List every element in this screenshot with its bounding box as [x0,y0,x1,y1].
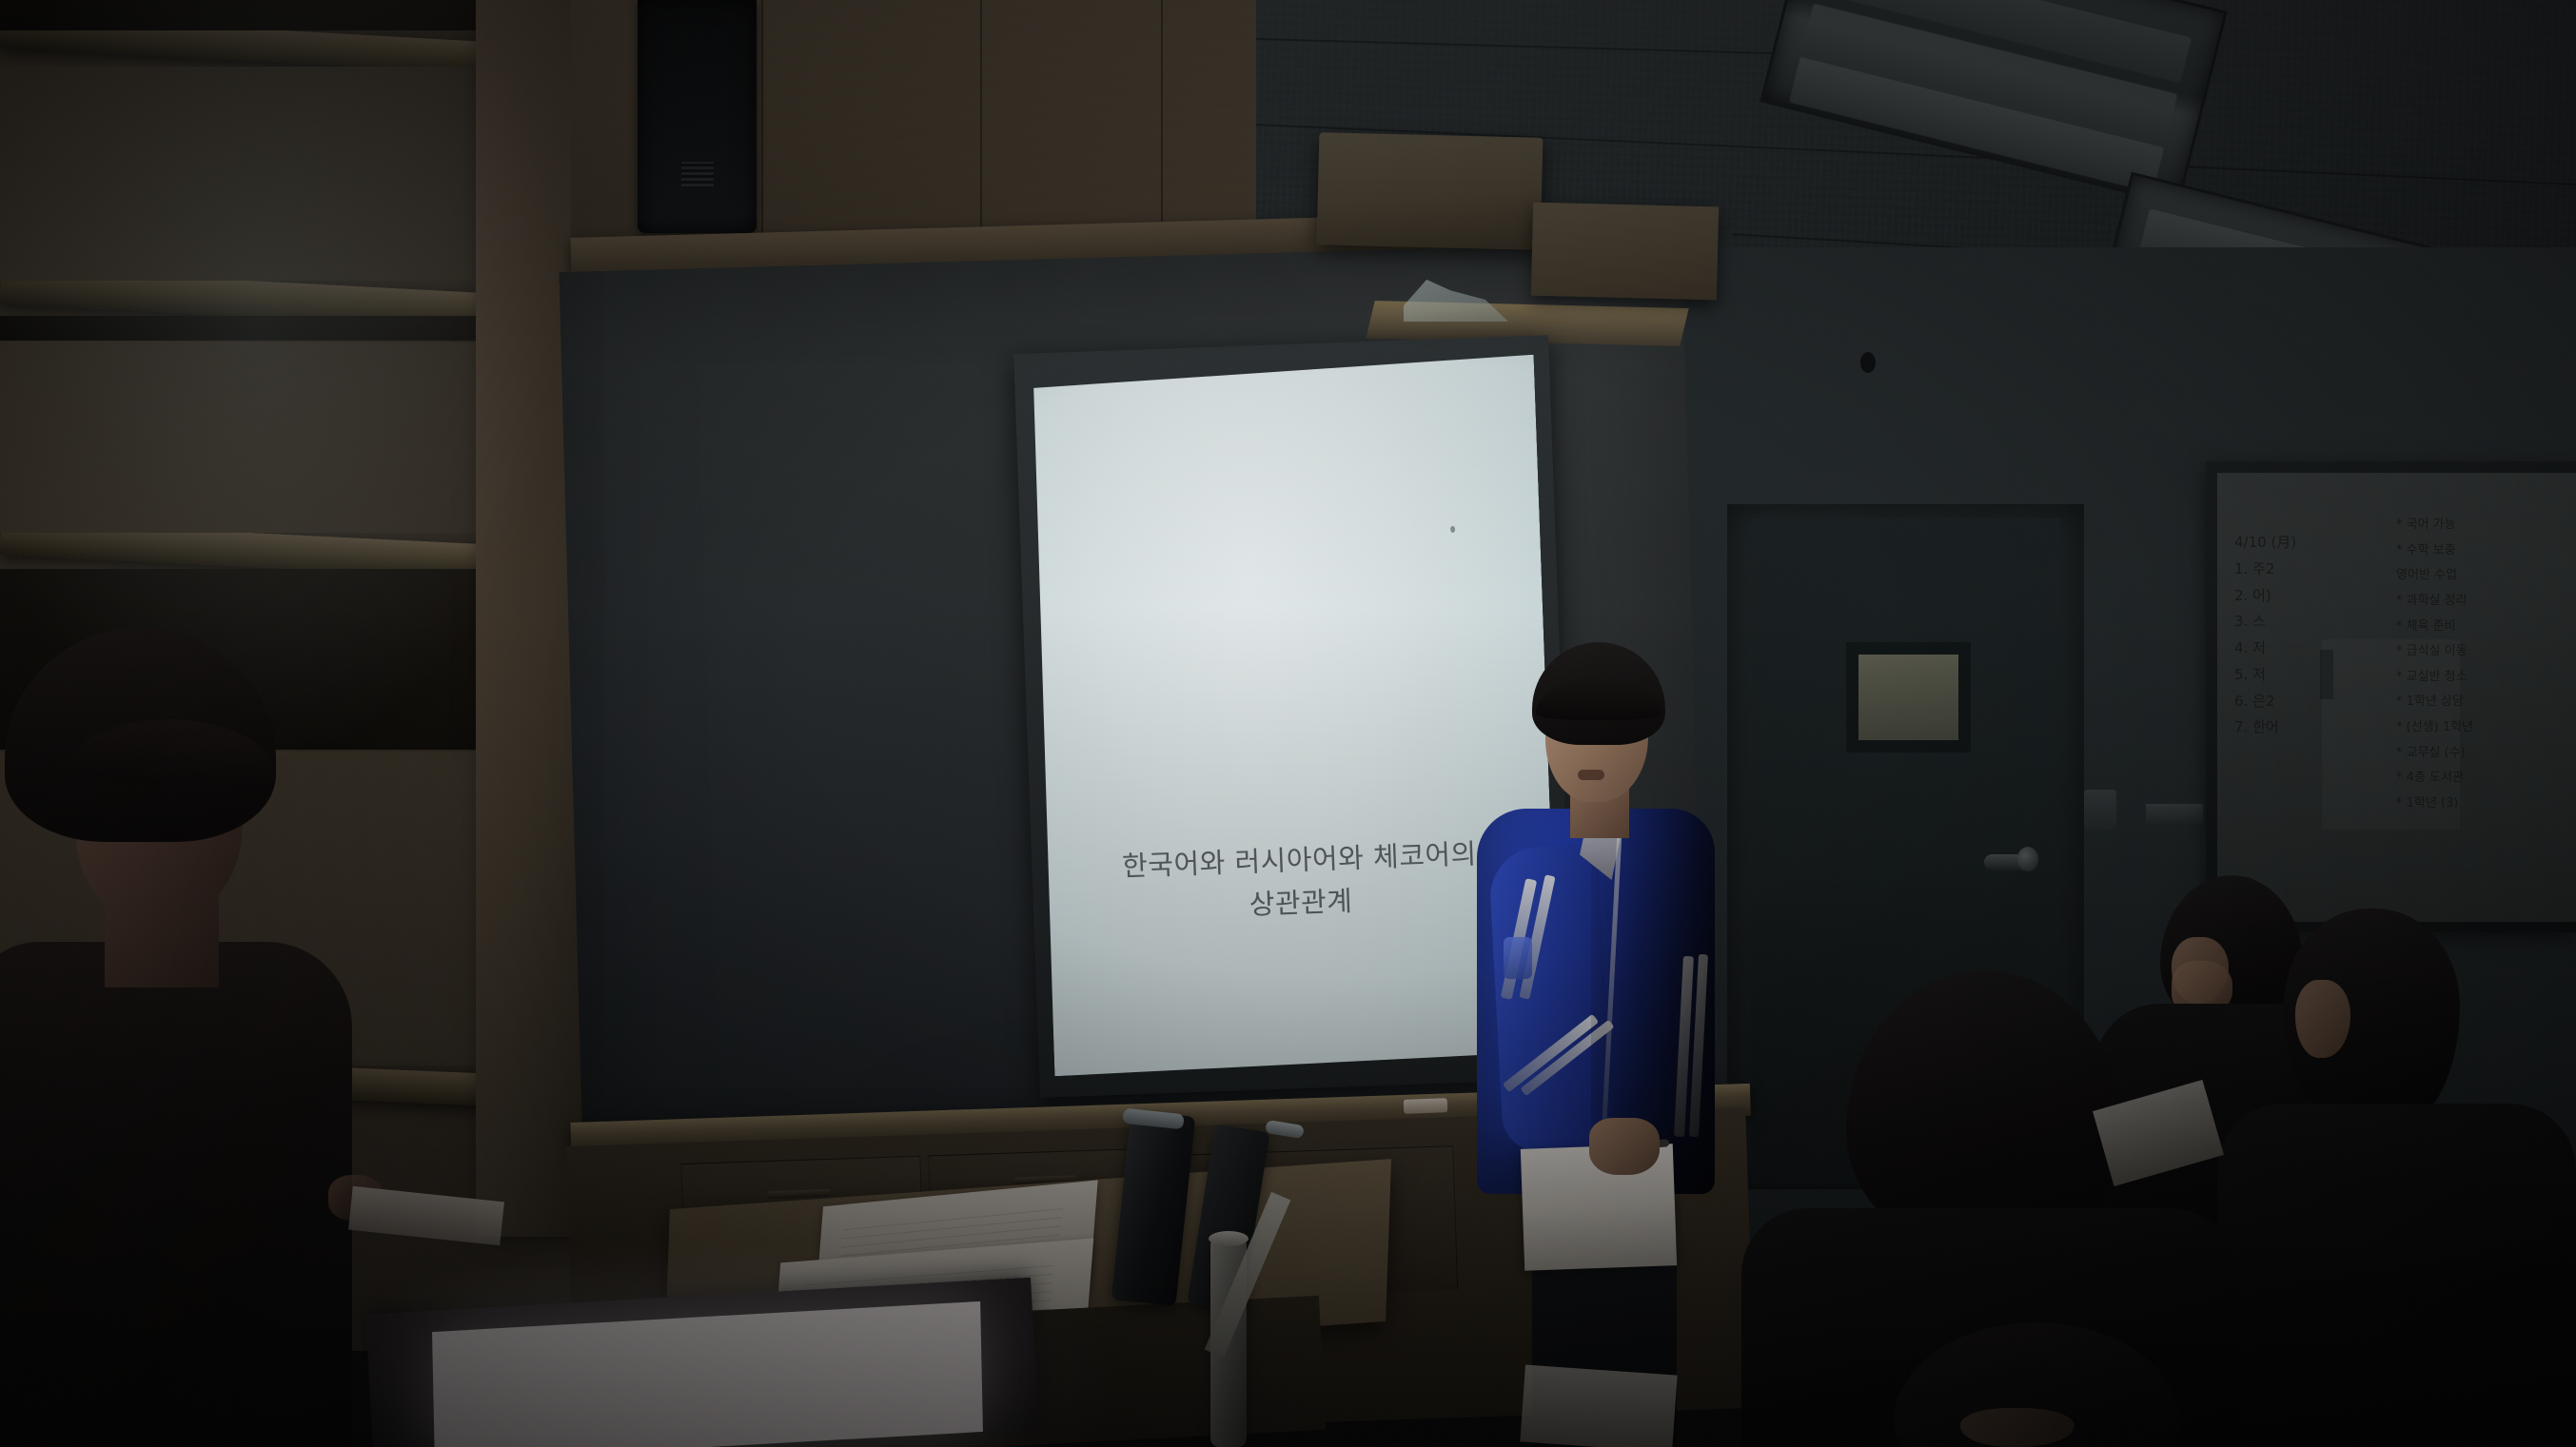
whiteboard-line: 2. 어) [2234,583,2296,610]
whiteboard: 4/10 (月) 1. 주2 2. 어) 3. 스 4. 저 5. 저 6. 은… [2217,473,2576,922]
projector-enclosure-box [1531,203,1719,301]
screen-speck [1450,526,1455,533]
projector-enclosure-box [1317,132,1544,250]
metal-pole-cap [1209,1231,1249,1246]
whiteboard-line: * 교무실 (수) [2396,741,2473,767]
whiteboard-line: * 1학년 (3) [2396,792,2473,817]
whiteboard-line: * 국어 가능 [2396,513,2473,538]
whiteboard-right-column: * 국어 가능 * 수학 보충 영어반 수업 * 과학실 정리 * 체육 준비 … [2396,513,2473,817]
whiteboard-line: * 4층 도서관 [2396,766,2473,792]
ceiling-mount-icon [1860,352,1876,373]
whiteboard-line: 4. 저 [2234,636,2296,662]
whiteboard-line: * 1학년 상담 [2396,690,2473,715]
shelf-cavity [0,0,495,30]
whiteboard-line: * 수학 보충 [2396,538,2473,564]
whiteboard-line: * 급식실 이동 [2396,639,2473,665]
jacket-shoulder-patch [1504,937,1532,979]
whiteboard-line: 영어반 수업 [2396,563,2473,589]
student-foreground-left [0,628,362,1447]
whiteboard-line: * (선생) 1학년 [2396,715,2473,741]
presenter-mouth [1578,770,1604,780]
whiteboard-line: * 체육 준비 [2396,615,2473,640]
shelf-cavity [0,316,495,341]
cabinet-panel [0,342,487,533]
wall-plate [2146,804,2203,825]
whiteboard-line: 3. 스 [2234,609,2296,636]
speaker-grille-icon [681,162,714,186]
whiteboard-line: * 교실반 청소 [2396,665,2473,691]
classroom-photo: 한국어와 러시아어와 체코어의 상관관계 4/10 (月) 1. 주2 2. 어… [0,0,2576,1447]
audience-paper[interactable] [1520,1365,1677,1447]
presenter-hands [1589,1118,1660,1175]
whiteboard-line: 7. 한어 [2234,714,2296,741]
whiteboard-line: 1. 주2 [2234,557,2296,583]
whiteboard-eraser[interactable] [1404,1098,1447,1114]
door-window [1846,642,1971,753]
whiteboard-line: 5. 저 [2234,662,2296,689]
whiteboard-line: * 과학실 정리 [2396,589,2473,615]
whiteboard-left-column: 4/10 (月) 1. 주2 2. 어) 3. 스 4. 저 5. 저 6. 은… [2234,530,2296,741]
whiteboard-mark [2320,650,2333,699]
door-handle-knob[interactable] [2017,847,2038,871]
presenter [1477,642,1715,1447]
student-body [0,942,352,1447]
wall-outlet [2084,790,2116,830]
whiteboard-line: 6. 은2 [2234,689,2296,715]
wall-speaker [638,0,757,233]
cabinet-panel [0,67,487,281]
audience-body [2217,1104,2576,1447]
whiteboard-line: 4/10 (月) [2234,530,2296,557]
